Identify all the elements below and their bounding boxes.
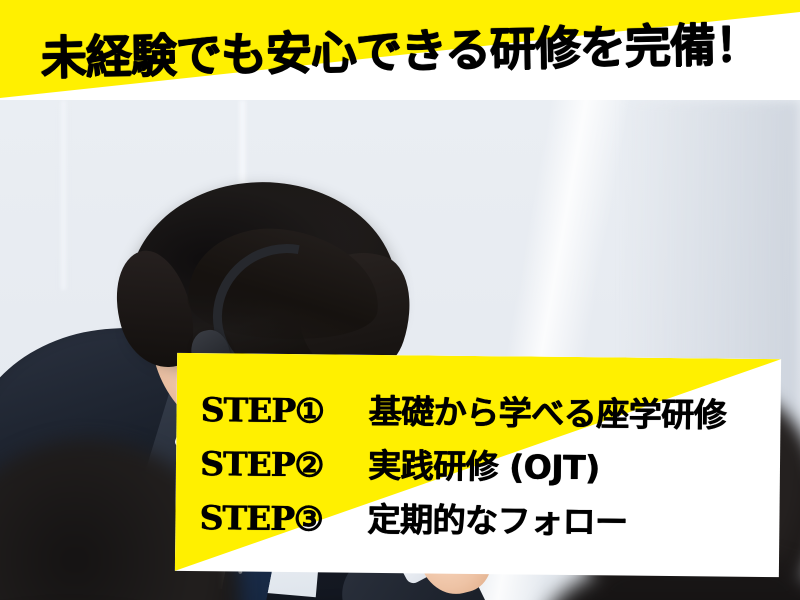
list-item: STEP③ 定期的なフォロー — [199, 491, 769, 545]
whiteboard-seam-secondary-icon — [60, 100, 67, 290]
list-item: STEP② 実践研修 (OJT) — [200, 437, 770, 491]
step-label: STEP② — [200, 444, 368, 485]
step-label: STEP① — [200, 390, 368, 431]
step-description: 基礎から学べる座学研修 — [368, 385, 726, 437]
steps-list: STEP① 基礎から学べる座学研修 STEP② 実践研修 (OJT) STEP③… — [199, 383, 771, 545]
steps-panel: STEP① 基礎から学べる座学研修 STEP② 実践研修 (OJT) STEP③… — [175, 353, 781, 577]
step-label: STEP③ — [199, 498, 367, 539]
step-description: 定期的なフォロー — [367, 493, 627, 544]
poster-canvas: 未経験でも安心できる研修を完備！ STEP① 基礎から学べる座学研修 STEP②… — [0, 0, 800, 600]
headline-text: 未経験でも安心できる研修を完備！ — [0, 0, 800, 104]
step-description: 実践研修 (OJT) — [368, 439, 600, 489]
list-item: STEP① 基礎から学べる座学研修 — [200, 383, 770, 437]
